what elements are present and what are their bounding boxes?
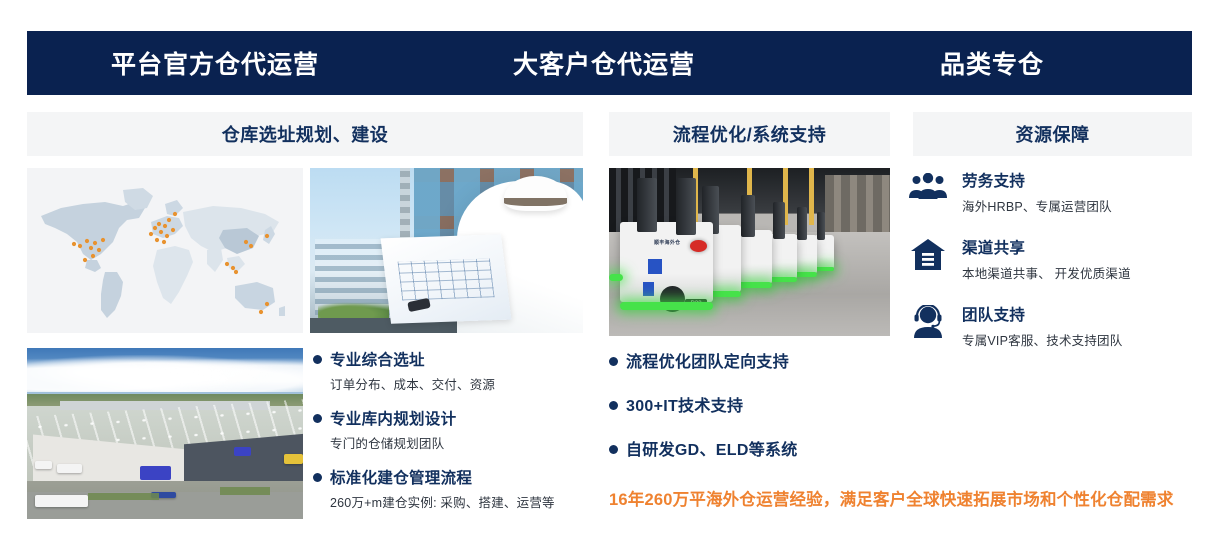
- bullet-subtitle: 订单分布、成本、交付、资源: [330, 374, 593, 393]
- bullet-title: 300+IT技术支持: [626, 392, 743, 416]
- bullet-title: 标准化建仓管理流程: [330, 466, 472, 488]
- footnote-text: 16年260万平海外仓运营经验，满足客户全球快速拓展市场和个性化仓配需求: [609, 486, 1174, 510]
- feature-subtitle: 海外HRBP、专属运营团队: [962, 196, 1112, 215]
- bullet-dot-icon: [313, 473, 322, 482]
- people-group-icon: [908, 168, 948, 208]
- feature-title: 团队支持: [962, 303, 1122, 325]
- section-header-warehouse-planning: 仓库选址规划、建设: [27, 112, 583, 156]
- headset-support-icon: [908, 302, 948, 342]
- feature-item-team-support: 团队支持 专属VIP客服、技术支持团队: [908, 302, 1196, 349]
- architect-photo-graphic: [310, 168, 583, 333]
- section-header-resource-guarantee: 资源保障: [913, 112, 1192, 156]
- agv-photo-graphic: 顺丰海外仓 D33: [609, 168, 890, 336]
- section-header-label: 仓库选址规划、建设: [222, 121, 389, 147]
- feature-title: 劳务支持: [962, 169, 1112, 191]
- bullet-title: 流程优化团队定向支持: [626, 348, 789, 372]
- bullet-item: 专业库内规划设计 专门的仓储规划团队: [313, 407, 593, 452]
- bullet-item: 流程优化团队定向支持: [609, 348, 909, 372]
- feature-item-labor-support: 劳务支持 海外HRBP、专属运营团队: [908, 168, 1196, 215]
- feature-text: 渠道共享 本地渠道共事、 开发优质渠道: [962, 235, 1131, 282]
- warehouse-photo-graphic: [27, 348, 303, 519]
- warehouse-building-icon: [908, 235, 948, 275]
- world-map-graphic: [27, 168, 303, 333]
- agv-robot-fleet-image: 顺丰海外仓 D33: [609, 168, 890, 336]
- architect-blueprint-image: [310, 168, 583, 333]
- bullet-item: 标准化建仓管理流程 260万+m建仓实例: 采购、搭建、运营等: [313, 466, 593, 511]
- feature-subtitle: 专属VIP客服、技术支持团队: [962, 330, 1122, 349]
- feature-text: 团队支持 专属VIP客服、技术支持团队: [962, 302, 1122, 349]
- bullet-title: 专业综合选址: [330, 348, 425, 370]
- warehouse-aerial-image: [27, 348, 303, 519]
- bullet-dot-icon: [609, 445, 618, 454]
- feature-item-channel-sharing: 渠道共享 本地渠道共事、 开发优质渠道: [908, 235, 1196, 282]
- section-header-label: 资源保障: [1016, 121, 1090, 147]
- warehouse-planning-bullet-list: 专业综合选址 订单分布、成本、交付、资源 专业库内规划设计 专门的仓储规划团队 …: [313, 348, 593, 525]
- bullet-item: 专业综合选址 订单分布、成本、交付、资源: [313, 348, 593, 393]
- resource-guarantee-feature-list: 劳务支持 海外HRBP、专属运营团队 渠道共享: [908, 168, 1196, 369]
- bullet-dot-icon: [609, 401, 618, 410]
- bullet-dot-icon: [313, 414, 322, 423]
- top-title-3: 品类专仓: [940, 45, 1044, 81]
- section-header-label: 流程优化/系统支持: [673, 121, 827, 147]
- bullet-subtitle: 260万+m建仓实例: 采购、搭建、运营等: [330, 492, 593, 511]
- feature-subtitle: 本地渠道共事、 开发优质渠道: [962, 263, 1131, 282]
- bullet-subtitle: 专门的仓储规划团队: [330, 433, 593, 452]
- bullet-dot-icon: [313, 355, 322, 364]
- process-optimization-bullet-list: 流程优化团队定向支持 300+IT技术支持 自研发GD、ELD等系统: [609, 348, 909, 480]
- feature-title: 渠道共享: [962, 236, 1131, 258]
- section-header-process-optimization: 流程优化/系统支持: [609, 112, 890, 156]
- top-title-2: 大客户仓代运营: [513, 45, 695, 81]
- world-map-image: [27, 168, 303, 333]
- bullet-item: 自研发GD、ELD等系统: [609, 436, 909, 460]
- bullet-title: 自研发GD、ELD等系统: [626, 436, 798, 460]
- top-title-1: 平台官方仓代运营: [111, 45, 319, 81]
- bullet-item: 300+IT技术支持: [609, 392, 909, 416]
- slide-root: 平台官方仓代运营 大客户仓代运营 品类专仓 仓库选址规划、建设 流程优化/系统支…: [0, 0, 1219, 549]
- top-title-bar: 平台官方仓代运营 大客户仓代运营 品类专仓: [27, 31, 1192, 95]
- bullet-title: 专业库内规划设计: [330, 407, 456, 429]
- feature-text: 劳务支持 海外HRBP、专属运营团队: [962, 168, 1112, 215]
- bullet-dot-icon: [609, 357, 618, 366]
